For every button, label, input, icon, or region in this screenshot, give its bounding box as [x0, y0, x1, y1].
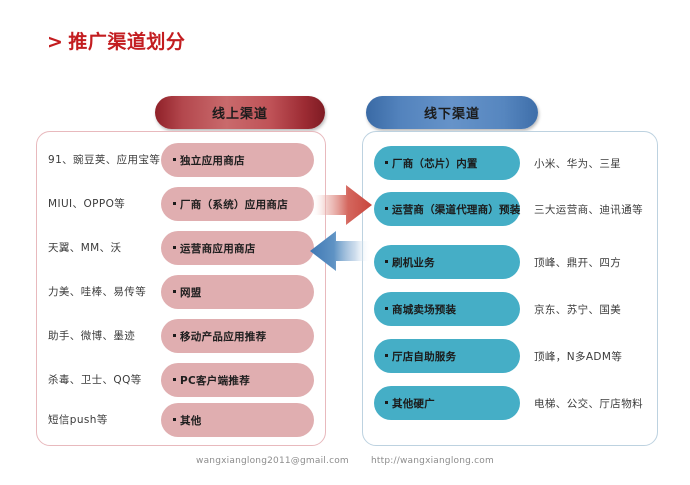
list-item[interactable]: 天翼、MM、沃 运营商应用商店 [37, 228, 325, 268]
offline-channels-panel: 厂商（芯片）内置 小米、华为、三星 运营商（渠道代理商）预装 三大运营商、迪讯通… [362, 131, 658, 446]
online-example-5: 杀毒、卫士、QQ等 [37, 374, 161, 387]
square-bullet-icon [385, 307, 388, 310]
list-item[interactable]: MIUI、OPPO等 厂商（系统）应用商店 [37, 184, 325, 224]
offline-example-4: 顶峰，N多ADM等 [520, 349, 657, 364]
offline-example-2: 顶峰、鼎开、四方 [520, 255, 657, 270]
offline-example-1: 三大运营商、迪讯通等 [520, 202, 657, 217]
online-example-6: 短信push等 [37, 414, 161, 427]
online-example-2: 天翼、MM、沃 [37, 242, 161, 255]
header-offline-label: 线下渠道 [424, 103, 480, 122]
square-bullet-icon [173, 246, 176, 249]
offline-pill-label-5: 其他硬广 [392, 396, 435, 411]
online-pill-label-0: 独立应用商店 [180, 153, 245, 168]
online-pill-6[interactable]: 其他 [161, 403, 314, 437]
offline-pill-0[interactable]: 厂商（芯片）内置 [374, 146, 520, 180]
offline-example-3: 京东、苏宁、国美 [520, 302, 657, 317]
list-item[interactable]: 厅店自助服务 顶峰，N多ADM等 [363, 336, 657, 376]
header-online-channels[interactable]: 线上渠道 [155, 96, 325, 129]
online-pill-label-4: 移动产品应用推荐 [180, 329, 266, 344]
online-example-0: 91、豌豆荚、应用宝等 [37, 154, 161, 167]
offline-pill-2[interactable]: 刷机业务 [374, 245, 520, 279]
online-pill-label-3: 网盟 [180, 285, 202, 300]
offline-pill-5[interactable]: 其他硬广 [374, 386, 520, 420]
square-bullet-icon [385, 260, 388, 263]
offline-pill-3[interactable]: 商城卖场预装 [374, 292, 520, 326]
list-item[interactable]: 助手、微博、墨迹 移动产品应用推荐 [37, 316, 325, 356]
online-example-4: 助手、微博、墨迹 [37, 330, 161, 343]
square-bullet-icon [385, 161, 388, 164]
offline-example-5: 电梯、公交、厅店物料 [520, 396, 657, 411]
online-pill-label-2: 运营商应用商店 [180, 241, 256, 256]
online-channels-panel: 91、豌豆荚、应用宝等 独立应用商店 MIUI、OPPO等 厂商（系统）应用商店… [36, 131, 326, 446]
list-item[interactable]: 短信push等 其他 [37, 400, 325, 440]
online-pill-label-6: 其他 [180, 413, 202, 428]
offline-example-0: 小米、华为、三星 [520, 156, 657, 171]
header-offline-channels[interactable]: 线下渠道 [366, 96, 538, 129]
offline-pill-4[interactable]: 厅店自助服务 [374, 339, 520, 373]
footer: wangxianglong2011@gmail.com http://wangx… [0, 456, 690, 466]
offline-pill-label-3: 商城卖场预装 [392, 302, 456, 317]
online-pill-label-1: 厂商（系统）应用商店 [180, 197, 288, 212]
square-bullet-icon [173, 378, 176, 381]
list-item[interactable]: 厂商（芯片）内置 小米、华为、三星 [363, 143, 657, 183]
online-pill-5[interactable]: PC客户端推荐 [161, 363, 314, 397]
square-bullet-icon [385, 401, 388, 404]
list-item[interactable]: 刷机业务 顶峰、鼎开、四方 [363, 242, 657, 282]
page-title: >推广渠道划分 [47, 27, 185, 54]
offline-pill-1[interactable]: 运营商（渠道代理商）预装 [374, 192, 520, 226]
footer-url: http://wangxianglong.com [371, 456, 494, 466]
online-pill-0[interactable]: 独立应用商店 [161, 143, 314, 177]
online-pill-4[interactable]: 移动产品应用推荐 [161, 319, 314, 353]
list-item[interactable]: 力美、哇棒、易传等 网盟 [37, 272, 325, 312]
offline-pill-label-2: 刷机业务 [392, 255, 435, 270]
square-bullet-icon [173, 418, 176, 421]
list-item[interactable]: 其他硬广 电梯、公交、厅店物料 [363, 383, 657, 423]
square-bullet-icon [173, 290, 176, 293]
online-example-3: 力美、哇棒、易传等 [37, 286, 161, 299]
offline-pill-label-1: 运营商（渠道代理商）预装 [392, 202, 520, 217]
online-pill-2[interactable]: 运营商应用商店 [161, 231, 314, 265]
list-item[interactable]: 杀毒、卫士、QQ等 PC客户端推荐 [37, 360, 325, 400]
list-item[interactable]: 商城卖场预装 京东、苏宁、国美 [363, 289, 657, 329]
square-bullet-icon [385, 207, 388, 210]
list-item[interactable]: 91、豌豆荚、应用宝等 独立应用商店 [37, 140, 325, 180]
square-bullet-icon [385, 354, 388, 357]
online-example-1: MIUI、OPPO等 [37, 198, 161, 211]
online-pill-label-5: PC客户端推荐 [180, 373, 250, 388]
offline-pill-label-0: 厂商（芯片）内置 [392, 156, 478, 171]
header-online-label: 线上渠道 [212, 103, 268, 122]
title-chevron: > [47, 31, 63, 53]
online-pill-1[interactable]: 厂商（系统）应用商店 [161, 187, 314, 221]
list-item[interactable]: 运营商（渠道代理商）预装 三大运营商、迪讯通等 [363, 189, 657, 229]
offline-pill-label-4: 厅店自助服务 [392, 349, 456, 364]
square-bullet-icon [173, 202, 176, 205]
square-bullet-icon [173, 158, 176, 161]
online-pill-3[interactable]: 网盟 [161, 275, 314, 309]
title-text: 推广渠道划分 [68, 31, 185, 53]
footer-email: wangxianglong2011@gmail.com [196, 456, 349, 466]
square-bullet-icon [173, 334, 176, 337]
